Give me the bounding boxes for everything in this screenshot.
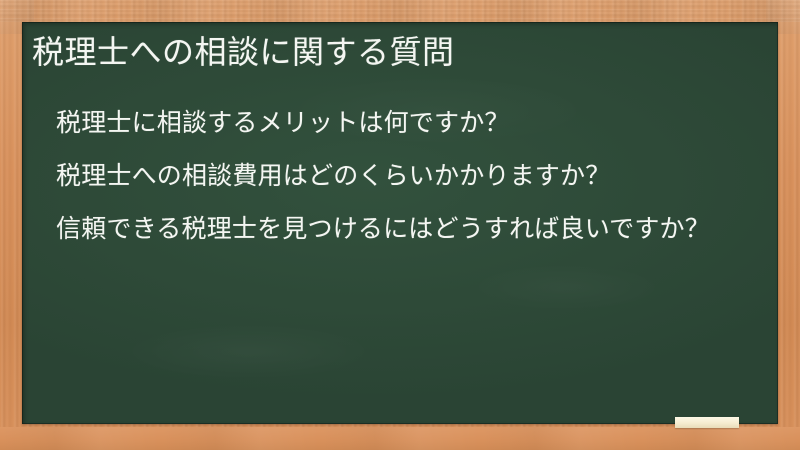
chalk-ledge bbox=[0, 427, 800, 450]
chalk-stick bbox=[675, 417, 739, 428]
list-item: 信頼できる税理士を見つけるにはどうすれば良いですか？ bbox=[56, 208, 756, 250]
chalkboard-slide: 税理士への相談に関する質問 税理士に相談するメリットは何ですか？ 税理士への相談… bbox=[0, 0, 800, 450]
question-list: 税理士に相談するメリットは何ですか？ 税理士への相談費用はどのくらいかかりますか… bbox=[56, 102, 756, 261]
frame-top-rail bbox=[0, 0, 800, 22]
list-item: 税理士への相談費用はどのくらいかかりますか？ bbox=[56, 155, 756, 197]
chalkboard-surface: 税理士への相談に関する質問 税理士に相談するメリットは何ですか？ 税理士への相談… bbox=[22, 22, 778, 424]
page-title: 税理士への相談に関する質問 bbox=[32, 30, 752, 74]
list-item: 税理士に相談するメリットは何ですか？ bbox=[56, 102, 756, 144]
